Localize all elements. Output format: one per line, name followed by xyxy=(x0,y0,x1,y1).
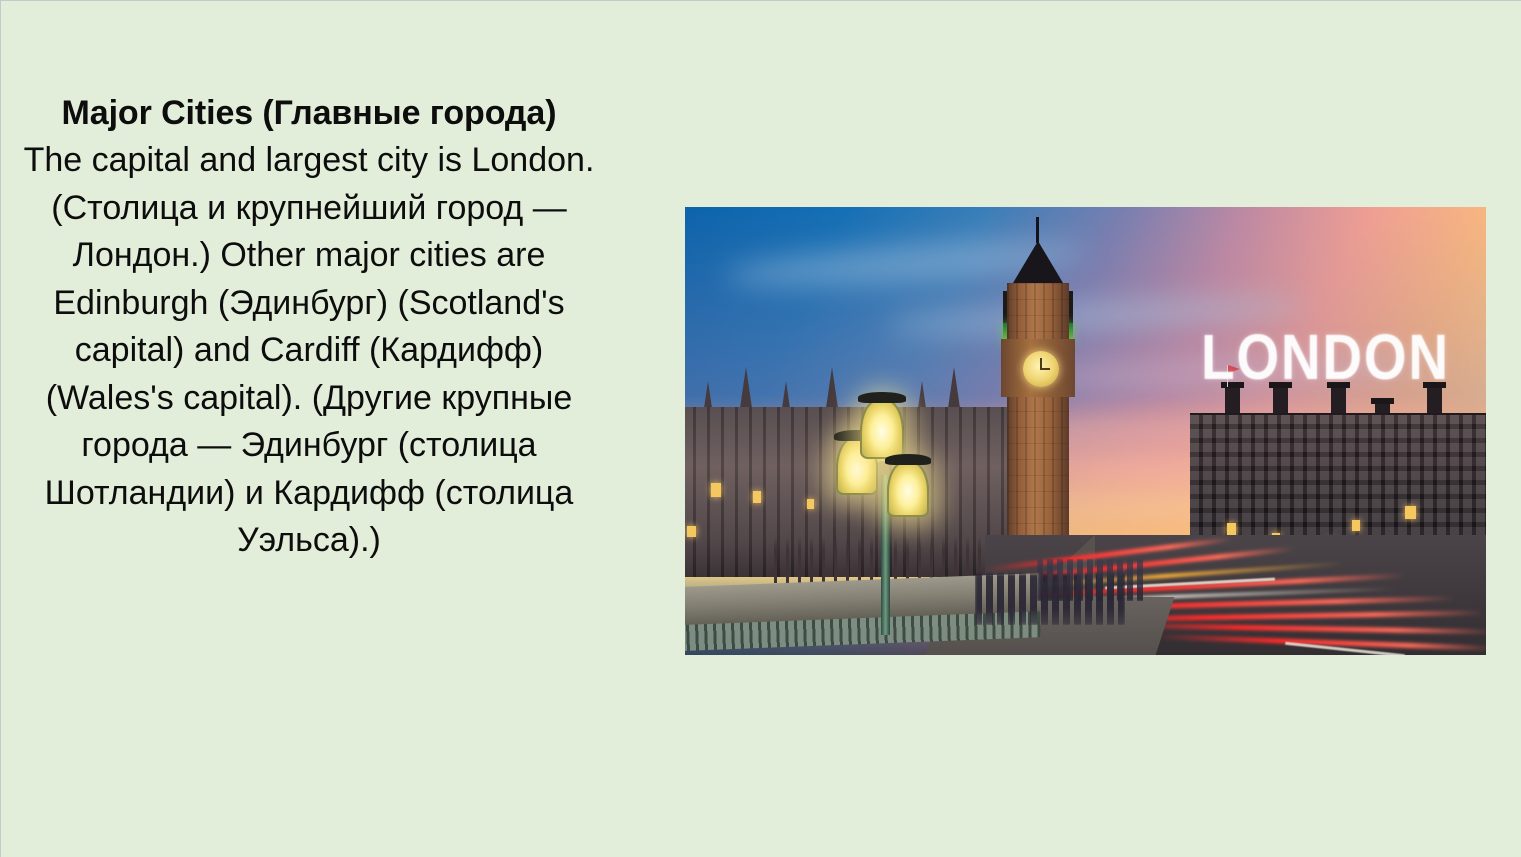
body-paragraph: The capital and largest city is London. … xyxy=(9,137,609,565)
lit-window xyxy=(711,483,721,497)
lit-window xyxy=(687,526,696,537)
lantern-icon xyxy=(860,399,904,459)
pedestrian-crowd xyxy=(1037,559,1147,601)
london-overlay-text: LONDON xyxy=(1201,325,1450,389)
lit-window xyxy=(753,491,761,503)
clock-face-icon xyxy=(1023,351,1059,387)
street-lamp-glow xyxy=(1405,506,1416,519)
text-column: Major Cities (Главные города) The capita… xyxy=(9,89,609,565)
big-ben-spire xyxy=(1036,217,1039,243)
lit-window xyxy=(807,499,814,509)
london-photo: LONDON xyxy=(685,207,1486,655)
lit-window xyxy=(1352,520,1360,531)
lantern-icon xyxy=(887,461,929,517)
lit-window xyxy=(1227,523,1236,535)
slide: Major Cities (Главные города) The capita… xyxy=(0,0,1521,857)
page-title: Major Cities (Главные города) xyxy=(9,89,609,137)
photo-canvas: LONDON xyxy=(685,207,1486,655)
